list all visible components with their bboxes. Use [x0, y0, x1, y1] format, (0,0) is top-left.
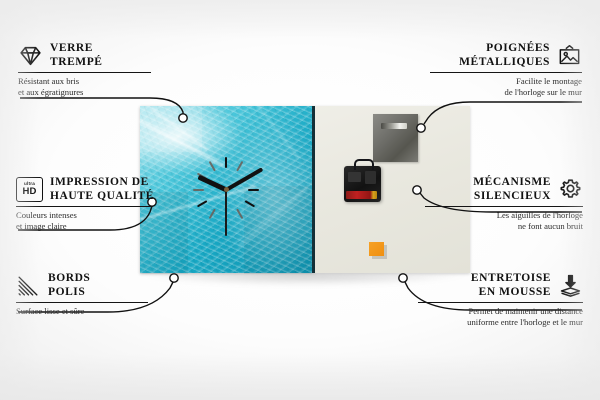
clock-center-cap — [224, 187, 229, 192]
polished-edges-icon — [16, 273, 41, 298]
feature-header: ENTRETOISE EN MOUSSE — [418, 272, 583, 299]
feature-subtitle-line1: Permet de maintenir une distance — [418, 306, 583, 317]
feature-verre-trempe: VERRE TREMPÉ Résistant aux bris et aux é… — [18, 42, 168, 97]
feature-subtitle-line2: et image claire — [16, 221, 181, 232]
mechanism-chip — [348, 172, 361, 182]
feature-rule — [418, 302, 583, 303]
battery — [346, 191, 377, 199]
feature-title: MÉCANISME SILENCIEUX — [425, 176, 551, 203]
feature-subtitle-line2: et aux égratignures — [18, 87, 168, 98]
feature-title: IMPRESSION DE HAUTE QUALITÉ — [50, 176, 154, 203]
feature-rule — [16, 302, 148, 303]
feature-subtitle-line1: Couleurs intenses — [16, 210, 181, 221]
gear-icon — [558, 177, 583, 202]
foam-spacer — [369, 242, 384, 256]
feature-poignees-metalliques: POIGNÉES MÉTALLIQUES Facilite le montage… — [430, 42, 582, 97]
metal-hanger-plate — [373, 114, 418, 162]
feature-subtitle-line1: Résistant aux bris — [18, 76, 168, 87]
hanging-loop — [354, 159, 374, 170]
feature-header: VERRE TREMPÉ — [18, 42, 168, 69]
foam-spacer-icon — [558, 273, 583, 298]
feature-entretoise-en-mousse: ENTRETOISE EN MOUSSE Permet de maintenir… — [418, 272, 583, 327]
feature-bords-polis: BORDS POLIS Surface lisse et sûre — [16, 272, 166, 317]
feature-rule — [18, 72, 151, 73]
mechanism-chip — [365, 171, 376, 184]
ultra-hd-icon: ultra HD — [16, 177, 43, 202]
picture-frame-hanger-icon — [557, 43, 582, 68]
diamond-icon — [18, 43, 43, 68]
feature-title: ENTRETOISE EN MOUSSE — [418, 272, 551, 299]
feature-title: BORDS POLIS — [48, 272, 90, 299]
hanger-slot — [381, 123, 407, 129]
feature-rule — [16, 206, 153, 207]
feature-subtitle-line2: ne font aucun bruit — [425, 221, 583, 232]
feature-header: MÉCANISME SILENCIEUX — [425, 176, 583, 203]
feature-header: POIGNÉES MÉTALLIQUES — [430, 42, 582, 69]
feature-subtitle-line1: Les aiguilles de l'horloge — [425, 210, 583, 221]
feature-header: ultra HD IMPRESSION DE HAUTE QUALITÉ — [16, 176, 181, 203]
feature-impression-haute-qualite: ultra HD IMPRESSION DE HAUTE QUALITÉ Cou… — [16, 176, 181, 231]
product-image — [140, 106, 470, 276]
feature-title: POIGNÉES MÉTALLIQUES — [430, 42, 550, 69]
feature-subtitle-line2: uniforme entre l'horloge et le mur — [418, 317, 583, 328]
feature-rule — [425, 206, 583, 207]
feature-mecanisme-silencieux: MÉCANISME SILENCIEUX Les aiguilles de l'… — [425, 176, 583, 231]
clock-second-hand — [225, 190, 227, 236]
feature-rule — [430, 72, 582, 73]
feature-subtitle-line1: Facilite le montage — [430, 76, 582, 87]
infographic-canvas: VERRE TREMPÉ Résistant aux bris et aux é… — [0, 0, 600, 400]
feature-title: VERRE TREMPÉ — [50, 42, 103, 69]
feature-subtitle-line1: Surface lisse et sûre — [16, 306, 166, 317]
feature-header: BORDS POLIS — [16, 272, 166, 299]
clock-mechanism — [344, 166, 381, 202]
feature-subtitle-line2: de l'horloge sur le mur — [430, 87, 582, 98]
